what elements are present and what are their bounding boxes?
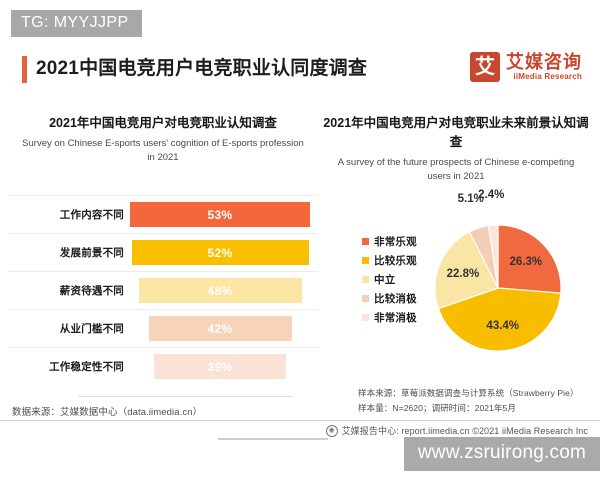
page-title: 2021中国电竞用户电竞职业认同度调查	[36, 53, 367, 80]
legend-item: 比较消极	[362, 289, 434, 308]
right-chart-title-cn: 2021年中国电竞用户对电竞职业未来前景认知调查	[320, 114, 592, 152]
legend-label: 中立	[374, 272, 395, 287]
legend-swatch	[362, 276, 369, 283]
right-source-line-2: 样本量：N=2620；调研时间：2021年5月	[358, 401, 579, 416]
footer-bar: ◉ 艾媒报告中心: report.iimedia.cn ©2021 iiMedi…	[326, 424, 588, 437]
bar-track: 52%	[130, 234, 310, 271]
bar-category-label: 工作内容不同	[28, 207, 124, 222]
bar-segment: 42%	[149, 316, 292, 341]
pie-value-label: 22.8%	[447, 268, 480, 280]
legend-item: 比较乐观	[362, 251, 434, 270]
page-header: 2021中国电竞用户电竞职业认同度调查 艾 艾媒咨询 iiMedia Resea…	[0, 50, 600, 94]
logo-name-en: iiMedia Research	[506, 72, 582, 81]
footer-text: 艾媒报告中心: report.iimedia.cn ©2021 iiMedia …	[342, 424, 588, 437]
left-chart-title-en: Survey on Chinese E-sports users' cognit…	[18, 137, 308, 166]
watermark: www.zsruirong.com	[404, 437, 600, 471]
bar-category-label: 发展前景不同	[28, 245, 124, 260]
pie-value-label: 2.4%	[478, 189, 504, 201]
footer-underline	[218, 438, 328, 440]
bar-category-label: 工作稳定性不同	[28, 359, 124, 374]
legend-label: 非常消极	[374, 310, 417, 325]
bar-chart: 工作内容不同53%发展前景不同52%薪资待遇不同48%从业门槛不同42%工作稳定…	[8, 195, 318, 385]
bar-value-label: 39%	[208, 360, 233, 374]
legend-swatch	[362, 295, 369, 302]
right-chart-title-en: A survey of the future prospects of Chin…	[330, 156, 582, 185]
legend-swatch	[362, 257, 369, 264]
bar-track: 53%	[130, 196, 310, 233]
bar-row: 工作内容不同53%	[8, 195, 318, 233]
legend-label: 比较乐观	[374, 253, 417, 268]
tg-banner: TG: MYYJJPP	[11, 10, 142, 37]
logo-name-cn: 艾媒咨询	[506, 53, 582, 72]
right-source-line-1: 样本来源：草莓派数据调查与计算系统（Strawberry Pie）	[358, 386, 579, 401]
bar-row: 薪资待遇不同48%	[8, 271, 318, 309]
bar-category-label: 薪资待遇不同	[28, 283, 124, 298]
legend-swatch	[362, 238, 369, 245]
legend-item: 非常消极	[362, 308, 434, 327]
bar-row: 发展前景不同52%	[8, 233, 318, 271]
bar-track: 39%	[130, 348, 310, 385]
legend-label: 非常乐观	[374, 234, 417, 249]
bar-value-label: 52%	[208, 246, 233, 260]
legend-item: 非常乐观	[362, 232, 434, 251]
pie-value-label: 26.3%	[509, 256, 542, 268]
legend-item: 中立	[362, 270, 434, 289]
left-chart-panel: 2021年中国电竞用户对电竞职业认知调查 Survey on Chinese E…	[8, 100, 318, 166]
logo-mark-icon: 艾	[470, 52, 500, 82]
globe-icon: ◉	[326, 425, 338, 437]
bar-track: 42%	[130, 310, 310, 347]
bar-row: 工作稳定性不同39%	[8, 347, 318, 385]
legend-label: 比较消极	[374, 291, 417, 306]
title-accent-bar	[22, 56, 27, 83]
bar-segment: 52%	[132, 240, 309, 265]
pie-chart-legend: 非常乐观比较乐观中立比较消极非常消极	[362, 232, 434, 327]
legend-swatch	[362, 314, 369, 321]
bar-category-label: 从业门槛不同	[28, 321, 124, 336]
left-chart-title-cn: 2021年中国电竞用户对电竞职业认知调查	[8, 114, 318, 133]
bar-segment: 39%	[154, 354, 286, 379]
pie-chart: 非常乐观比较乐观中立比较消极非常消极 26.3%43.4%22.8%5.1%2.…	[320, 190, 600, 370]
bar-track: 48%	[130, 272, 310, 309]
pie-value-label: 43.4%	[486, 320, 519, 332]
bar-row: 从业门槛不同42%	[8, 309, 318, 347]
right-source-note: 样本来源：草莓派数据调查与计算系统（Strawberry Pie） 样本量：N=…	[358, 386, 579, 416]
brand-logo: 艾 艾媒咨询 iiMedia Research	[470, 52, 582, 82]
bar-value-label: 53%	[208, 208, 233, 222]
bar-value-label: 42%	[208, 322, 233, 336]
left-source-note: 数据来源：艾媒数据中心（data.iimedia.cn）	[12, 404, 202, 418]
footer-divider	[0, 420, 600, 421]
bar-segment: 53%	[130, 202, 310, 227]
right-chart-panel: 2021年中国电竞用户对电竞职业未来前景认知调查 A survey of the…	[320, 100, 592, 185]
left-source-divider	[78, 396, 293, 397]
bar-segment: 48%	[139, 278, 302, 303]
bar-value-label: 48%	[208, 284, 233, 298]
